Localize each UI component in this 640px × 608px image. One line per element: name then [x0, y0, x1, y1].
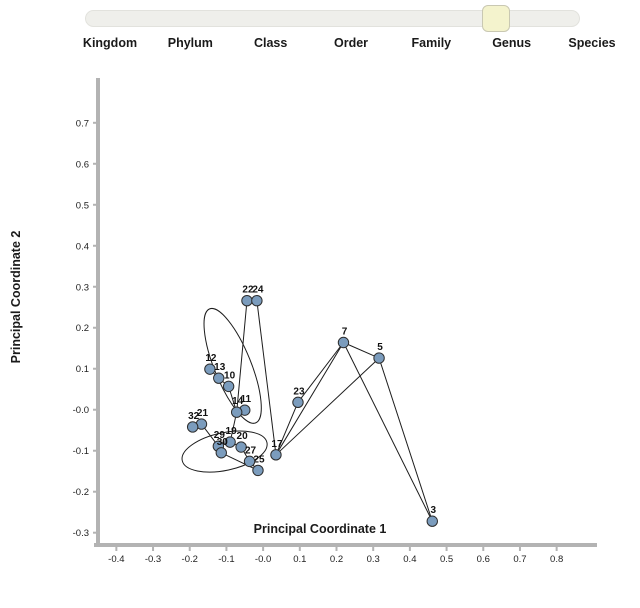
x-tick-label: 0.8 — [550, 554, 563, 565]
data-point-17[interactable] — [271, 450, 281, 460]
x-tick-label: 0.6 — [477, 554, 490, 565]
point-label-10: 10 — [224, 370, 236, 381]
y-tick-label: 0.3 — [76, 282, 89, 293]
network-edge — [298, 343, 343, 403]
point-label-3: 3 — [430, 505, 436, 516]
rank-label-genus[interactable]: Genus — [492, 36, 531, 50]
data-point-13[interactable] — [214, 373, 224, 383]
rank-label-family[interactable]: Family — [412, 36, 452, 50]
y-tick-label: 0.7 — [76, 118, 89, 129]
point-label-24: 24 — [252, 285, 264, 296]
point-label-7: 7 — [342, 327, 348, 338]
x-tick-label: 0.1 — [293, 554, 306, 565]
network-edge — [276, 358, 379, 455]
point-label-27: 27 — [245, 445, 257, 456]
data-point-27[interactable] — [244, 456, 254, 466]
data-point-14[interactable] — [231, 407, 241, 417]
point-label-14: 14 — [232, 396, 244, 407]
data-point-5[interactable] — [374, 353, 384, 363]
x-tick-label: -0.4 — [108, 554, 124, 565]
x-tick-label: -0.3 — [145, 554, 161, 565]
point-label-20: 20 — [237, 431, 249, 442]
data-point-10[interactable] — [223, 381, 233, 391]
y-tick-label: 0.1 — [76, 364, 89, 375]
y-tick-label: 0.5 — [76, 200, 89, 211]
y-tick-label: -0.0 — [73, 405, 89, 416]
x-tick-label: 0.3 — [367, 554, 380, 565]
point-label-13: 13 — [214, 362, 226, 373]
point-label-5: 5 — [377, 342, 383, 353]
point-label-32: 32 — [188, 411, 200, 422]
y-tick-label: 0.6 — [76, 159, 89, 170]
data-point-25[interactable] — [253, 465, 263, 475]
data-point-23[interactable] — [293, 397, 303, 407]
y-tick-label: 0.4 — [76, 241, 89, 252]
data-point-22[interactable] — [242, 295, 252, 305]
x-tick-label: -0.1 — [218, 554, 234, 565]
point-label-23: 23 — [293, 386, 305, 397]
y-tick-label: -0.2 — [73, 487, 89, 498]
rank-label-kingdom[interactable]: Kingdom — [83, 36, 137, 50]
rank-label-species[interactable]: Species — [568, 36, 615, 50]
point-label-30: 30 — [217, 437, 229, 448]
pcoa-scatter-chart: 0.70.60.50.40.30.20.1-0.0-0.1-0.2-0.3-0.… — [0, 60, 640, 608]
network-edge — [379, 358, 432, 521]
taxonomy-rank-slider[interactable]: KingdomPhylumClassOrderFamilyGenusSpecie… — [0, 0, 640, 60]
rank-label-phylum[interactable]: Phylum — [168, 36, 213, 50]
x-tick-label: 0.2 — [330, 554, 343, 565]
point-label-17: 17 — [271, 439, 283, 450]
data-point-30[interactable] — [216, 448, 226, 458]
x-tick-label: -0.2 — [182, 554, 198, 565]
data-point-32[interactable] — [187, 422, 197, 432]
x-tick-label: 0.5 — [440, 554, 453, 565]
network-edge — [257, 301, 276, 455]
rank-label-row: KingdomPhylumClassOrderFamilyGenusSpecie… — [0, 36, 640, 56]
data-point-24[interactable] — [252, 295, 262, 305]
rank-label-order[interactable]: Order — [334, 36, 368, 50]
point-label-19: 19 — [226, 426, 238, 437]
y-tick-label: 0.2 — [76, 323, 89, 334]
rank-label-class[interactable]: Class — [254, 36, 287, 50]
x-tick-label: 0.4 — [403, 554, 416, 565]
slider-handle[interactable] — [482, 5, 510, 32]
network-edge — [276, 343, 344, 455]
x-tick-label: -0.0 — [255, 554, 271, 565]
network-edge — [343, 343, 379, 359]
network-edge — [343, 343, 432, 522]
y-axis-title: Principal Coordinate 2 — [9, 197, 23, 397]
x-axis-title: Principal Coordinate 1 — [0, 522, 640, 536]
data-point-7[interactable] — [338, 337, 348, 347]
y-tick-label: -0.1 — [73, 446, 89, 457]
x-tick-label: 0.7 — [513, 554, 526, 565]
